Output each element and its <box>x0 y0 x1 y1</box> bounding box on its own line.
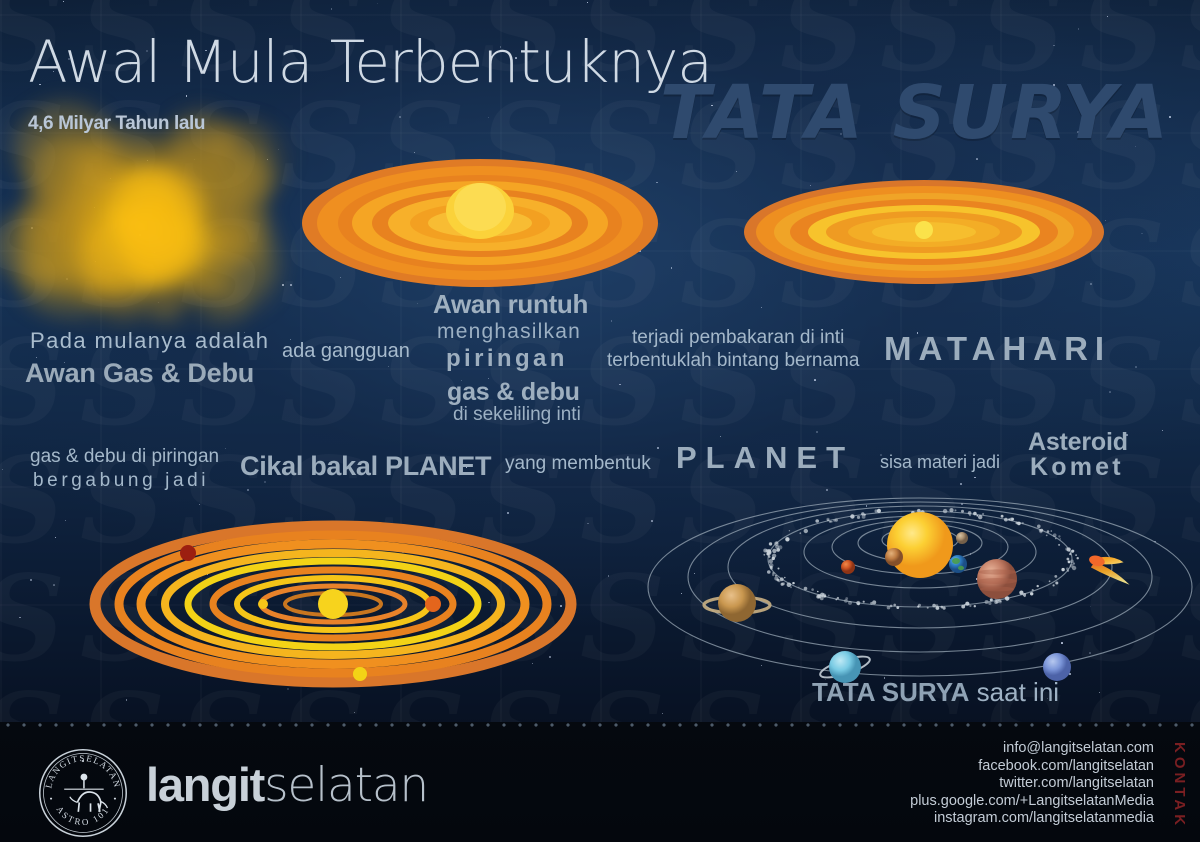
planetesimal-red <box>180 545 196 561</box>
protostar-core <box>915 221 933 239</box>
asteroid <box>787 583 792 588</box>
star <box>657 447 659 449</box>
stage4-label-matahari: MATAHARI <box>884 330 1111 368</box>
star <box>1135 366 1137 368</box>
stage3-line1: Awan runtuh <box>433 289 588 320</box>
asteroid <box>978 515 982 519</box>
asteroid <box>1030 592 1033 595</box>
asteroid <box>1055 538 1057 540</box>
stage3-line2: menghasilkan <box>437 320 581 344</box>
watermark-s-glyph: S <box>1180 88 1200 206</box>
star <box>960 483 962 485</box>
asteroid <box>955 509 957 511</box>
asteroid <box>829 521 831 523</box>
asteroid <box>775 575 777 577</box>
cloud-puff <box>80 213 172 298</box>
star <box>671 267 673 269</box>
asteroid <box>872 600 876 604</box>
star <box>247 489 249 491</box>
asteroid <box>768 550 770 552</box>
brand-wordmark: langitselatan <box>146 757 428 813</box>
asteroid <box>793 582 795 584</box>
asteroid <box>1058 544 1060 546</box>
asteroid <box>927 607 929 609</box>
asteroid <box>763 554 765 556</box>
asteroid <box>985 600 989 604</box>
asteroid <box>775 541 778 544</box>
asteroid <box>1010 518 1014 522</box>
asteroid <box>833 519 835 521</box>
asteroid <box>769 542 772 545</box>
star <box>53 584 55 586</box>
planet-saturn <box>704 584 770 622</box>
brand-light: selatan <box>264 758 428 813</box>
star <box>290 284 292 286</box>
asteroid <box>1022 522 1024 524</box>
contact-list: info@langitselatan.comfacebook.com/langi… <box>910 740 1154 828</box>
stage4-line1: terjadi pembakaran di inti <box>632 327 844 349</box>
stage6-label-planet: PLANET <box>676 440 854 476</box>
contact-line-2[interactable]: twitter.com/langitselatan <box>910 775 1154 793</box>
asteroid <box>887 606 891 610</box>
asteroid <box>990 598 993 601</box>
asteroid <box>932 604 936 608</box>
stage5-label: Cikal bakal PLANET <box>240 451 491 482</box>
cloud-puff <box>187 279 219 300</box>
star <box>30 579 32 581</box>
star <box>814 379 816 381</box>
asteroid <box>780 577 784 581</box>
asteroid <box>1053 584 1055 586</box>
star <box>488 117 489 118</box>
asteroid <box>767 570 771 574</box>
asteroid <box>1072 566 1076 570</box>
asteroid <box>815 519 819 523</box>
planet-earth <box>949 555 967 573</box>
asteroid <box>1039 529 1042 532</box>
caption-bold: TATA SURYA <box>812 677 969 707</box>
comet <box>1085 551 1135 585</box>
big-title-tata-surya: TATA SURYA <box>660 70 1170 156</box>
watermark-s-glyph: S <box>1180 324 1200 442</box>
asteroid <box>988 602 991 605</box>
stage4-line2: terbentuklah bintang bernama <box>607 350 859 372</box>
asteroid <box>848 601 852 605</box>
page-subtitle: 4,6 Milyar Tahun lalu <box>28 113 205 135</box>
star <box>816 431 818 433</box>
star <box>199 504 200 505</box>
asteroid <box>776 579 779 582</box>
contact-line-1[interactable]: facebook.com/langitselatan <box>910 758 1154 776</box>
asteroid <box>789 530 790 531</box>
star <box>331 8 333 10</box>
asteroid <box>1037 525 1041 529</box>
planet-mercury <box>956 532 968 544</box>
asteroid <box>828 595 830 597</box>
langitselatan-seal-logo: LANGITSELATAN ASTRO 101 <box>36 746 130 840</box>
asteroid <box>837 597 839 599</box>
asteroid <box>786 538 789 541</box>
asteroid <box>1067 570 1069 572</box>
asteroid <box>857 602 860 605</box>
asteroid <box>893 604 896 607</box>
asteroid <box>1070 560 1074 564</box>
protoplanetary-disk-illustration-1 <box>300 145 660 300</box>
stage7-line1: sisa materi jadi <box>880 452 1000 473</box>
footer-divider <box>0 723 1200 727</box>
asteroid <box>976 515 978 517</box>
brand-bold: langit <box>146 758 264 811</box>
jupiter-bands <box>977 569 1017 591</box>
asteroid <box>1053 533 1057 537</box>
asteroid <box>1055 582 1058 585</box>
asteroid <box>763 549 767 553</box>
star <box>587 523 589 525</box>
asteroid <box>817 591 819 593</box>
star <box>608 575 609 576</box>
asteroid <box>863 601 865 603</box>
asteroid <box>1000 600 1002 602</box>
stage5-line1: gas & debu di piringan <box>30 446 219 468</box>
forming-planets-disk-illustration <box>85 512 580 697</box>
stage5-line2: bergabung jadi <box>33 470 209 492</box>
star <box>126 699 128 701</box>
disk-ring <box>454 183 506 231</box>
stage1-line1: Pada mulanya adalah <box>30 328 269 354</box>
asteroid <box>824 595 826 597</box>
asteroid <box>804 587 808 591</box>
stage2-label: ada gangguan <box>282 340 410 363</box>
planetesimal-orange <box>425 596 441 612</box>
star <box>55 537 57 539</box>
star <box>720 436 721 437</box>
asteroid <box>1037 585 1039 587</box>
star <box>619 384 620 385</box>
asteroid <box>1051 530 1053 532</box>
asteroid <box>969 605 971 607</box>
asteroid <box>965 602 969 606</box>
asteroid <box>1019 591 1023 595</box>
asteroid <box>811 588 814 591</box>
asteroid <box>1046 535 1048 537</box>
star <box>761 307 762 308</box>
planet-mars <box>841 560 855 574</box>
asteroid <box>1001 515 1004 518</box>
asteroid <box>1054 575 1057 578</box>
seal-text-top: LANGITSELATAN <box>43 753 122 789</box>
star <box>354 712 355 713</box>
asteroid <box>995 599 999 603</box>
asteroid <box>778 568 780 570</box>
asteroid <box>1024 596 1025 597</box>
asteroid <box>1075 554 1077 556</box>
asteroid <box>781 583 784 586</box>
gas-dust-cloud-illustration <box>18 118 268 333</box>
star <box>974 477 975 478</box>
asteroid <box>790 586 792 588</box>
star <box>282 284 284 286</box>
asteroid <box>1070 553 1072 555</box>
asteroid <box>770 566 773 569</box>
star <box>19 617 20 618</box>
star <box>976 158 978 160</box>
asteroid <box>943 509 947 513</box>
star <box>417 303 418 304</box>
star <box>1053 45 1055 47</box>
asteroid <box>973 512 977 516</box>
asteroid <box>1077 557 1079 559</box>
asteroid <box>961 510 964 513</box>
stage7-label-komet: Komet <box>1030 453 1124 482</box>
star <box>1141 233 1142 234</box>
kontak-label: KONTAK <box>1171 742 1188 829</box>
asteroid <box>1047 530 1050 533</box>
contact-line-4[interactable]: instagram.com/langitselatanmedia <box>910 810 1154 828</box>
asteroid <box>772 549 776 553</box>
star <box>1078 28 1080 30</box>
star <box>399 116 401 118</box>
asteroid <box>804 529 808 533</box>
solar-system-caption: TATA SURYA saat ini <box>812 677 1059 708</box>
asteroid <box>835 599 837 601</box>
asteroid <box>772 557 775 560</box>
asteroid <box>917 509 921 513</box>
star <box>388 366 389 367</box>
seal-text-bottom: ASTRO 101 <box>55 804 112 827</box>
asteroid <box>875 509 878 512</box>
watermark-s-glyph: S <box>1180 206 1200 324</box>
svg-text:LANGITSELATAN: LANGITSELATAN <box>43 753 122 789</box>
stage3-line4: gas & debu <box>447 378 580 407</box>
asteroid <box>1067 558 1070 561</box>
cloud-puff <box>17 187 86 247</box>
contact-line-3[interactable]: plus.google.com/+LangitselatanMedia <box>910 793 1154 811</box>
asteroid <box>1004 518 1008 522</box>
asteroid <box>768 556 770 558</box>
asteroid <box>968 511 972 515</box>
asteroid <box>826 518 829 521</box>
star <box>1109 391 1111 393</box>
stage6-line1: yang membentuk <box>505 453 651 475</box>
asteroid <box>1058 535 1060 537</box>
infographic-poster: SSSSSSSSSSSSSSSSSSSSSSSSSSSSSSSSSSSSSSSS… <box>0 0 1200 842</box>
watermark-s-glyph: S <box>0 560 65 678</box>
asteroid <box>816 595 820 599</box>
star <box>1162 430 1163 431</box>
cloud-puff <box>151 299 182 323</box>
star <box>611 320 612 321</box>
protostar-core <box>318 589 348 619</box>
page-title: Awal Mula Terbentuknya <box>28 28 712 96</box>
asteroid <box>1060 538 1061 539</box>
asteroid <box>862 515 866 519</box>
asteroid <box>798 587 799 588</box>
asteroid <box>961 605 965 609</box>
star <box>63 1 64 2</box>
stage3-line3: piringan <box>446 345 568 373</box>
asteroid <box>890 605 893 608</box>
stage3-line5: di sekeliling inti <box>453 404 581 426</box>
asteroid <box>845 597 848 600</box>
asteroid <box>850 514 854 518</box>
star <box>2 469 3 470</box>
asteroid <box>982 513 984 515</box>
watermark-s-glyph: S <box>1180 0 1200 88</box>
asteroid <box>1071 550 1074 553</box>
asteroid <box>1067 547 1071 551</box>
star <box>587 2 588 3</box>
asteroid <box>799 532 801 534</box>
asteroid <box>1032 589 1034 591</box>
star <box>1107 16 1108 17</box>
asteroid <box>1068 561 1071 564</box>
asteroid <box>1061 568 1064 571</box>
asteroid <box>784 577 786 579</box>
asteroid <box>918 604 921 607</box>
asteroid <box>772 574 775 577</box>
svg-text:ASTRO 101: ASTRO 101 <box>55 804 112 827</box>
star <box>65 520 67 522</box>
caption-light: saat ini <box>969 677 1059 707</box>
planet-sun <box>887 512 953 578</box>
asteroid <box>974 605 976 607</box>
cloud-puff <box>204 125 243 160</box>
asteroid <box>936 604 939 607</box>
asteroid <box>949 508 953 512</box>
asteroid <box>941 606 944 609</box>
asteroid <box>776 548 780 552</box>
asteroid <box>1049 580 1051 582</box>
protoplanetary-disk-illustration-2 <box>742 172 1107 297</box>
star <box>225 448 226 449</box>
stage1-label: Awan Gas & Debu <box>25 358 254 389</box>
asteroid <box>896 606 899 609</box>
planetesimal-yellow-inner <box>258 599 268 609</box>
star <box>377 3 378 4</box>
planetesimal-yellow <box>353 667 367 681</box>
planet-venus <box>885 548 903 566</box>
asteroid <box>1017 522 1021 526</box>
asteroid <box>831 521 833 523</box>
contact-line-0[interactable]: info@langitselatan.com <box>910 740 1154 758</box>
asteroid <box>857 516 860 519</box>
centaur-figure-icon <box>64 774 107 812</box>
star <box>826 489 828 491</box>
